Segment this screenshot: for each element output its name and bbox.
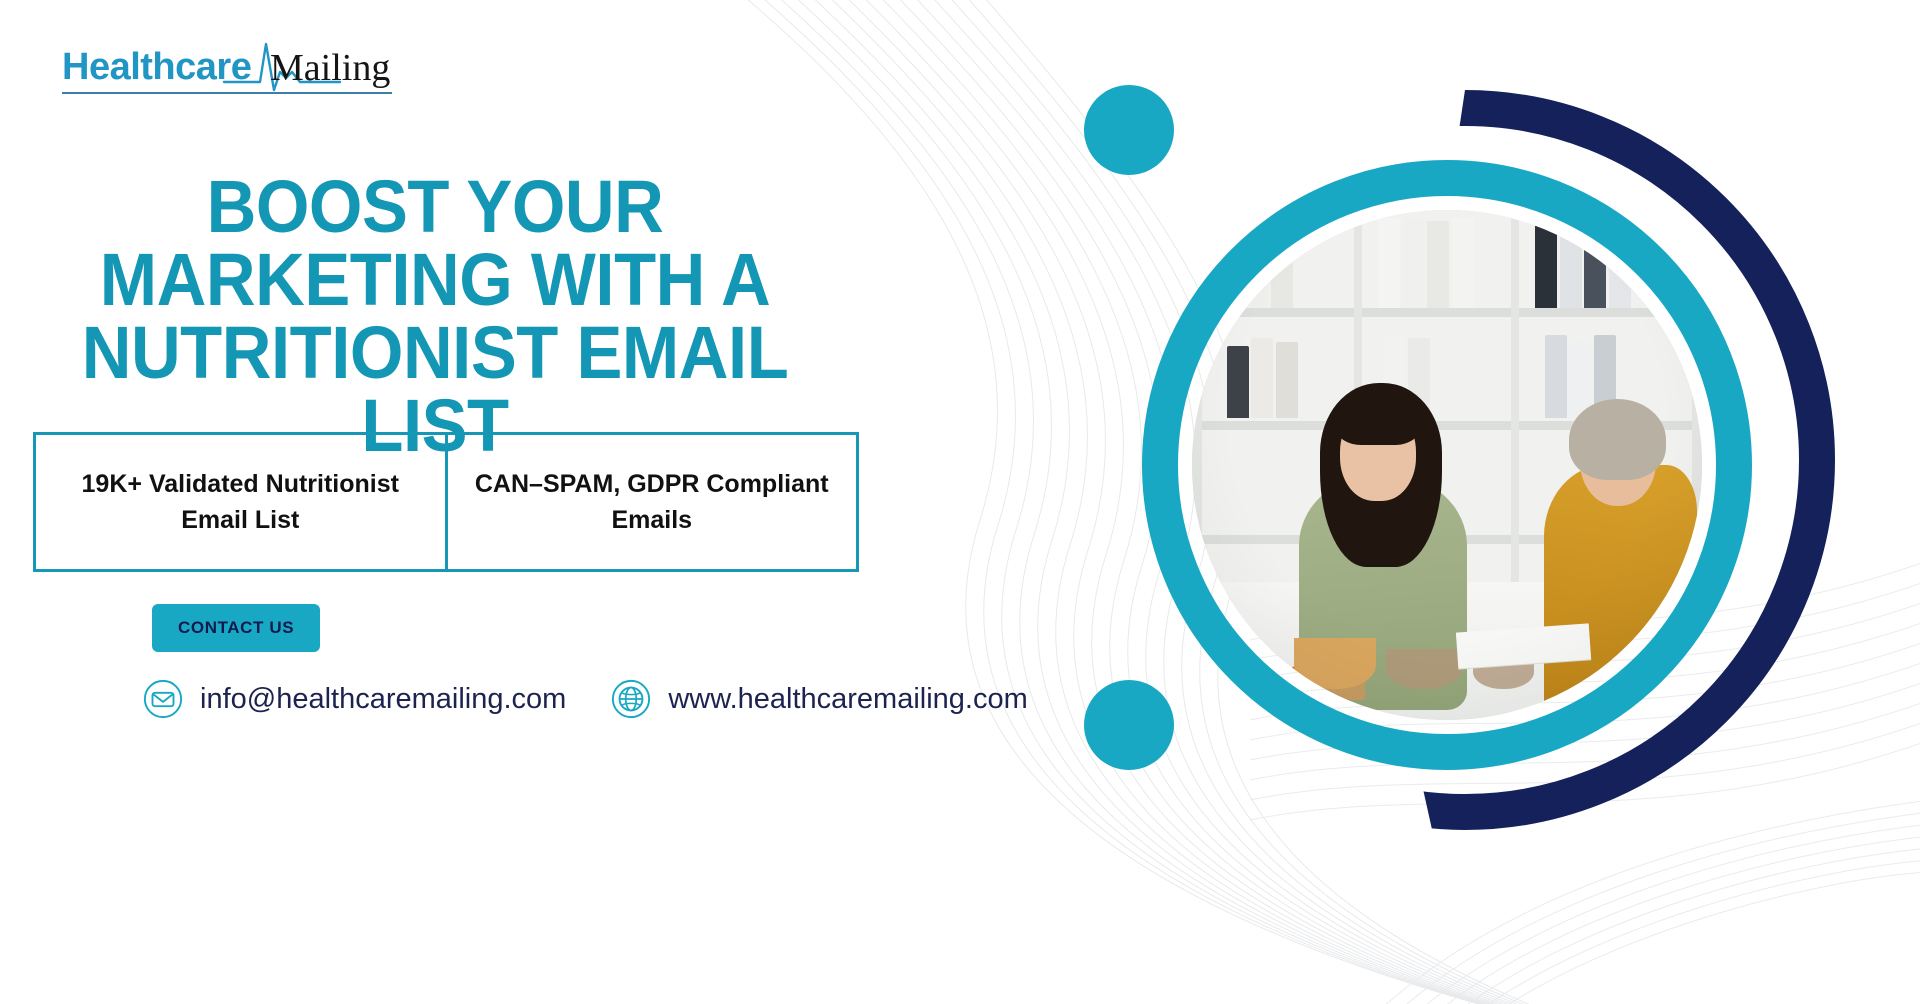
contact-info-row: info@healthcaremailing.com www.healthcar… — [142, 678, 1028, 720]
feature-box-validated-list: 19K+ Validated Nutritionist Email List — [36, 435, 445, 569]
logo-word-mailing: Mailing — [270, 46, 390, 90]
envelope-icon — [142, 678, 184, 720]
contact-email[interactable]: info@healthcaremailing.com — [142, 678, 566, 720]
page-title: BOOST YOUR MARKETING WITH A NUTRITIONIST… — [58, 170, 811, 463]
globe-icon — [610, 678, 652, 720]
content-column: Healthcare Mailing BOOST YOUR MARKETING … — [0, 0, 900, 1004]
logo-underline — [62, 92, 392, 94]
website-url: www.healthcaremailing.com — [668, 683, 1027, 716]
hero-circular-graphic — [1020, 20, 1920, 920]
feature-highlight-boxes: 19K+ Validated Nutritionist Email List C… — [33, 432, 859, 572]
teal-dot-bottom — [1084, 680, 1174, 770]
consultation-scene — [1192, 210, 1702, 720]
feature-box-compliance: CAN–SPAM, GDPR Compliant Emails — [445, 435, 857, 569]
hero-photo — [1192, 210, 1702, 720]
email-address: info@healthcaremailing.com — [200, 683, 566, 716]
marketing-banner: Healthcare Mailing BOOST YOUR MARKETING … — [0, 0, 1920, 1004]
company-logo[interactable]: Healthcare Mailing — [62, 40, 402, 98]
teal-dot-top — [1084, 85, 1174, 175]
contact-website[interactable]: www.healthcaremailing.com — [610, 678, 1027, 720]
contact-us-button[interactable]: CONTACT US — [152, 604, 320, 652]
